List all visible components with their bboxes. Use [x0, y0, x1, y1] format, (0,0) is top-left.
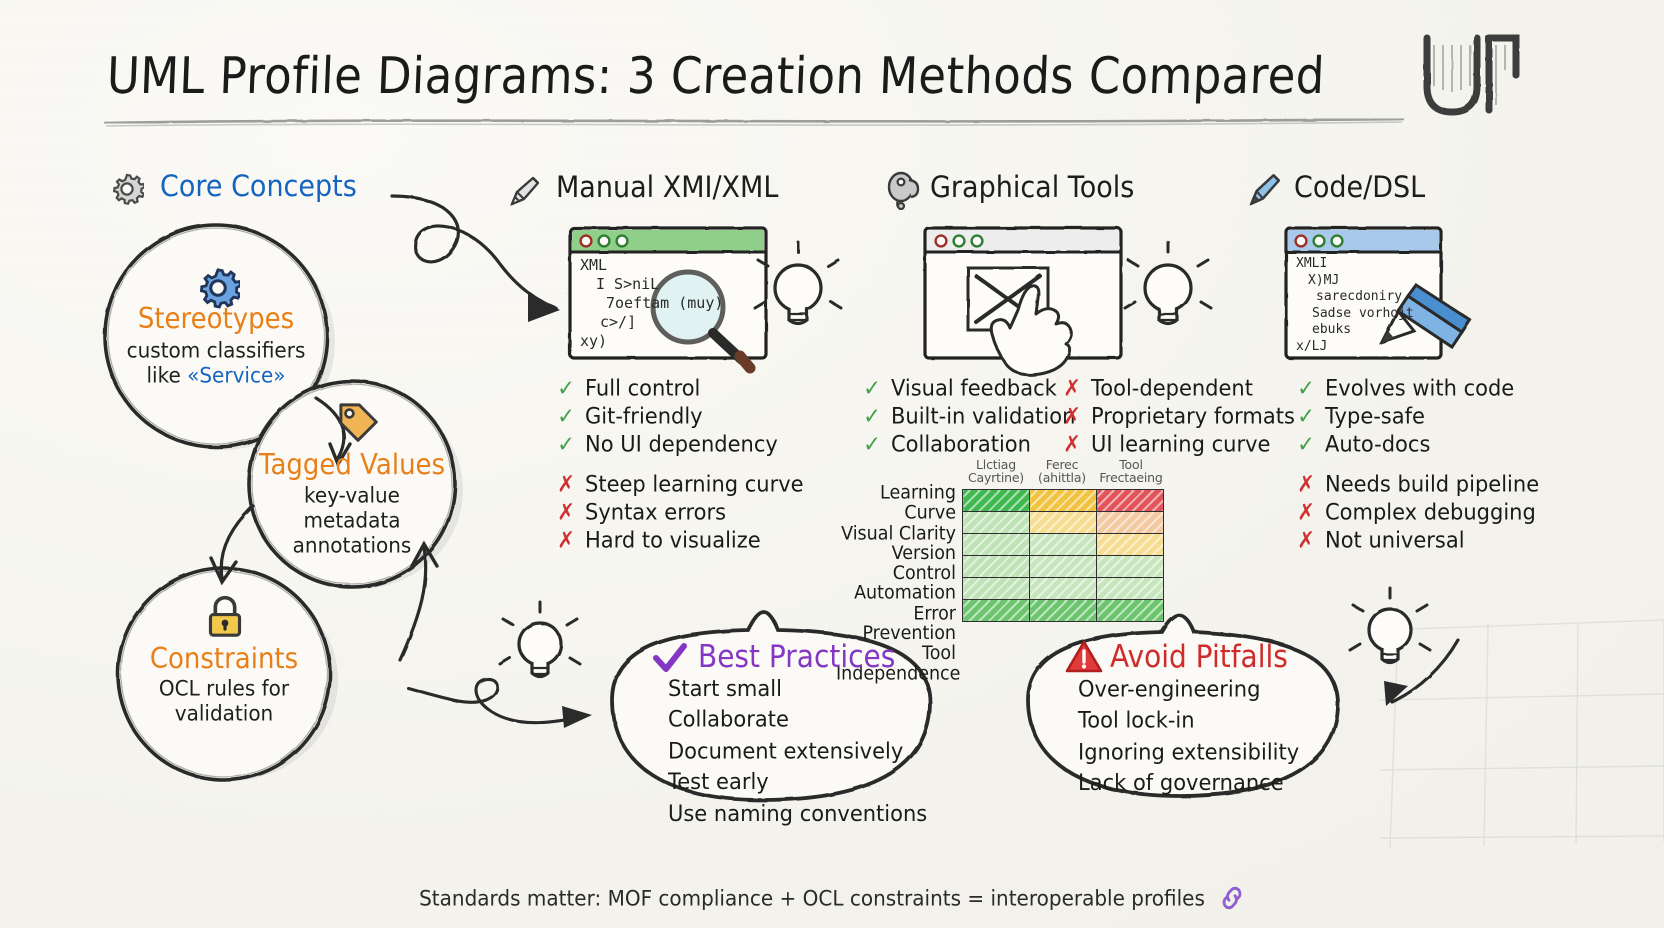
check-icon: ✓ [556, 401, 576, 431]
pro-item: ✓Full control [556, 373, 778, 403]
heatmap-table [962, 489, 1164, 622]
code-line: xy) [580, 332, 723, 351]
con-item: ✗Hard to visualize [556, 525, 804, 555]
heatmap-col-label-3: Tool Frectaeing [1096, 458, 1166, 484]
heatmap-cell [1097, 600, 1164, 622]
blue-pencil-icon-heading [1245, 170, 1283, 208]
heatmap-cell [1030, 600, 1097, 622]
circle-title-tagged-values: Tagged Values [252, 449, 452, 482]
pro-label: Evolves with code [1325, 373, 1514, 403]
code-line: x/LJ [1296, 339, 1414, 356]
cons-list-graphical: ✗Tool-dependent ✗Proprietary formats ✗UI… [1062, 374, 1295, 458]
constraints-line-2: validation [114, 701, 334, 726]
window-graphical-tools [925, 228, 1121, 375]
bubble-item: Tool lock-in [1078, 706, 1299, 737]
constraints-line-1: OCL rules for [114, 676, 334, 701]
check-icon: ✓ [1296, 401, 1316, 431]
code-line: X)MJ [1296, 273, 1414, 290]
pro-item: ✓Type-safe [1296, 401, 1514, 431]
pros-list-graphical: ✓Visual feedback ✓Built-in validation ✓C… [862, 374, 1075, 458]
pro-label: Git-friendly [585, 401, 703, 431]
code-line: c>/] [580, 313, 723, 332]
pros-list-manual: ✓Full control ✓Git-friendly ✓No UI depen… [556, 374, 778, 458]
con-item: ✗Tool-dependent [1062, 373, 1295, 403]
code-line: XMLI [1296, 256, 1414, 273]
heatmap-row [963, 578, 1164, 600]
pro-item: ✓Auto-docs [1296, 429, 1514, 459]
heatmap-col-label-1: Llctiag Cayrtine) [964, 458, 1028, 484]
pencil-icon [506, 172, 542, 208]
pro-label: Built-in validation [891, 401, 1075, 431]
code-text-manual: XML I S>niL 7oeftam (muy) c>/] xy) [580, 256, 723, 351]
cross-icon: ✗ [1062, 401, 1082, 431]
pros-list-code: ✓Evolves with code ✓Type-safe ✓Auto-docs [1296, 374, 1514, 458]
con-label: Tool-dependent [1091, 373, 1253, 403]
cons-list-code: ✗Needs build pipeline ✗Complex debugging… [1296, 470, 1539, 554]
con-label: UI learning curve [1091, 429, 1270, 459]
pro-label: Full control [585, 373, 700, 403]
heatmap-cell [963, 600, 1030, 622]
heatmap-row [963, 534, 1164, 556]
cross-icon: ✗ [1296, 525, 1316, 555]
heatmap-cell [963, 534, 1030, 556]
pro-item: ✓Collaboration [862, 429, 1075, 459]
cross-icon: ✗ [556, 497, 576, 527]
pro-item: ✓No UI dependency [556, 429, 778, 459]
tagged-line-2: metadata [252, 508, 452, 533]
circle-body-tagged-values: key-value metadata annotations [252, 483, 452, 558]
lock-icon [204, 594, 246, 640]
method-heading-graphical: Graphical Tools [930, 170, 1134, 204]
pro-item: ✓Built-in validation [862, 401, 1075, 431]
heatmap-cell [963, 512, 1030, 534]
code-line: sarecdoniry [1296, 289, 1414, 306]
check-icon: ✓ [556, 429, 576, 459]
heatmap-cell [1030, 490, 1097, 512]
heatmap-row-label: Version Control [836, 544, 956, 584]
bubble-items-avoid-pitfalls: Over-engineering Tool lock-in Ignoring e… [1078, 674, 1299, 799]
con-label: Steep learning curve [585, 469, 804, 499]
lightbulb-icon-manual [755, 242, 841, 324]
bubble-item: Over-engineering [1078, 674, 1299, 705]
constraints-to-bestpractices-arrow [408, 679, 592, 728]
heatmap-cell [1030, 578, 1097, 600]
heatmap-cell [1097, 512, 1164, 534]
bubble-item: Collaborate [668, 705, 927, 736]
cross-icon: ✗ [556, 525, 576, 555]
tagged-line-1: key-value [252, 483, 452, 508]
link-chain-icon [1219, 885, 1245, 911]
heatmap-cell [1030, 556, 1097, 578]
heatmap-cell [963, 578, 1030, 600]
cons-list-manual: ✗Steep learning curve ✗Syntax errors ✗Ha… [556, 470, 804, 554]
heatmap-row-label: Visual Clarity [836, 524, 956, 544]
heatmap-cell [1097, 578, 1164, 600]
pro-item: ✓Visual feedback [862, 373, 1075, 403]
con-item: ✗Needs build pipeline [1296, 469, 1539, 499]
check-icon: ✓ [862, 373, 882, 403]
check-icon: ✓ [862, 401, 882, 431]
pro-item: ✓Git-friendly [556, 401, 778, 431]
heatmap-cell [1097, 490, 1164, 512]
heatmap-row [963, 490, 1164, 512]
code-line: Sadse vorhojt [1296, 306, 1414, 323]
decorative-grid [1380, 620, 1664, 848]
method-heading-manual: Manual XMI/XML [556, 170, 778, 204]
core-concepts-heading: Core Concepts [160, 169, 357, 203]
pro-label: Auto-docs [1325, 429, 1430, 459]
con-item: ✗UI learning curve [1062, 429, 1295, 459]
code-line: ebuks [1296, 322, 1414, 339]
heatmap-row-label: Learning Curve [836, 484, 956, 524]
mouse-icon [884, 170, 922, 210]
bubble-item: Document extensively [668, 736, 927, 767]
uml-logo-mark [1427, 38, 1516, 112]
pro-label: Type-safe [1325, 401, 1425, 431]
cross-icon: ✗ [1062, 373, 1082, 403]
pro-label: No UI dependency [585, 429, 778, 459]
con-label: Hard to visualize [585, 525, 761, 555]
tag-icon [336, 400, 380, 444]
check-icon: ✓ [1296, 429, 1316, 459]
stereotypes-line-2: like «Service» [96, 363, 336, 388]
circle-title-constraints: Constraints [124, 643, 324, 676]
cross-icon: ✗ [1062, 429, 1082, 459]
heatmap-cell [1097, 556, 1164, 578]
stereotypes-line-1: custom classifiers [96, 338, 336, 363]
bubble-item: Lack of governance [1078, 768, 1299, 799]
lightbulb-icon-graphical [1125, 242, 1211, 324]
circle-body-stereotypes: custom classifiers like «Service» [96, 338, 336, 388]
bubble-title-avoid-pitfalls: Avoid Pitfalls [1110, 638, 1288, 674]
code-line: XML [580, 256, 723, 275]
con-item: ✗Complex debugging [1296, 497, 1539, 527]
heatmap-cell [1030, 534, 1097, 556]
bubble-item: Use naming conventions [668, 798, 927, 829]
cross-icon: ✗ [1296, 497, 1316, 527]
stereotypes-service-token: «Service» [187, 362, 285, 388]
core-to-manual-arrow [392, 196, 560, 322]
stereotypes-like-word: like [146, 362, 187, 388]
con-label: Syntax errors [585, 497, 726, 527]
con-item: ✗Steep learning curve [556, 469, 804, 499]
check-icon: ✓ [862, 429, 882, 459]
check-icon: ✓ [556, 373, 576, 403]
warning-triangle-icon [1064, 638, 1104, 676]
bubble-item: Start small [668, 674, 927, 705]
code-line: I S>niL [580, 275, 723, 294]
lightbulb-icon-left [500, 602, 580, 677]
page-title: UML Profile Diagrams: 3 Creation Methods… [106, 46, 1326, 105]
check-icon: ✓ [1296, 373, 1316, 403]
method-heading-code: Code/DSL [1294, 170, 1425, 204]
circle-body-constraints: OCL rules for validation [114, 676, 334, 726]
con-label: Not universal [1325, 525, 1465, 555]
heatmap-cell [963, 556, 1030, 578]
footer-text: Standards matter: MOF compliance + OCL c… [419, 885, 1205, 911]
heatmap-row-label: Automation [836, 584, 956, 604]
tagged-line-3: annotations [252, 533, 452, 558]
con-item: ✗Not universal [1296, 525, 1539, 555]
heatmap-cell [963, 490, 1030, 512]
cross-icon: ✗ [556, 469, 576, 499]
bubble-title-best-practices: Best Practices [698, 638, 895, 674]
code-line: 7oeftam (muy) [580, 294, 723, 313]
circle-title-stereotypes: Stereotypes [116, 303, 316, 336]
con-label: Proprietary formats [1091, 401, 1295, 431]
cross-icon: ✗ [1296, 469, 1316, 499]
heatmap-cell [1097, 534, 1164, 556]
footer: Standards matter: MOF compliance + OCL c… [0, 885, 1664, 911]
title-underline [104, 119, 1404, 126]
check-icon-best-practices [650, 638, 690, 678]
pro-label: Visual feedback [891, 373, 1057, 403]
con-item: ✗Proprietary formats [1062, 401, 1295, 431]
gear-icon [110, 172, 144, 206]
bubble-item: Test early [668, 767, 927, 798]
code-text-code-dsl: XMLI X)MJ sarecdoniry Sadse vorhojt ebuk… [1296, 256, 1414, 355]
bubble-item: Ignoring extensibility [1078, 737, 1299, 768]
con-label: Complex debugging [1325, 497, 1536, 527]
heatmap-grid [962, 489, 1164, 622]
pro-label: Collaboration [891, 429, 1031, 459]
lightbulb-icon-right [1350, 588, 1430, 663]
con-label: Needs build pipeline [1325, 469, 1539, 499]
con-item: ✗Syntax errors [556, 497, 804, 527]
heatmap-col-label-2: Ferec (ahittla) [1030, 458, 1094, 484]
bubble-items-best-practices: Start small Collaborate Document extensi… [668, 674, 927, 830]
heatmap-row [963, 556, 1164, 578]
heatmap-cell [1030, 512, 1097, 534]
heatmap-row [963, 600, 1164, 622]
heatmap-row [963, 512, 1164, 534]
pro-item: ✓Evolves with code [1296, 373, 1514, 403]
